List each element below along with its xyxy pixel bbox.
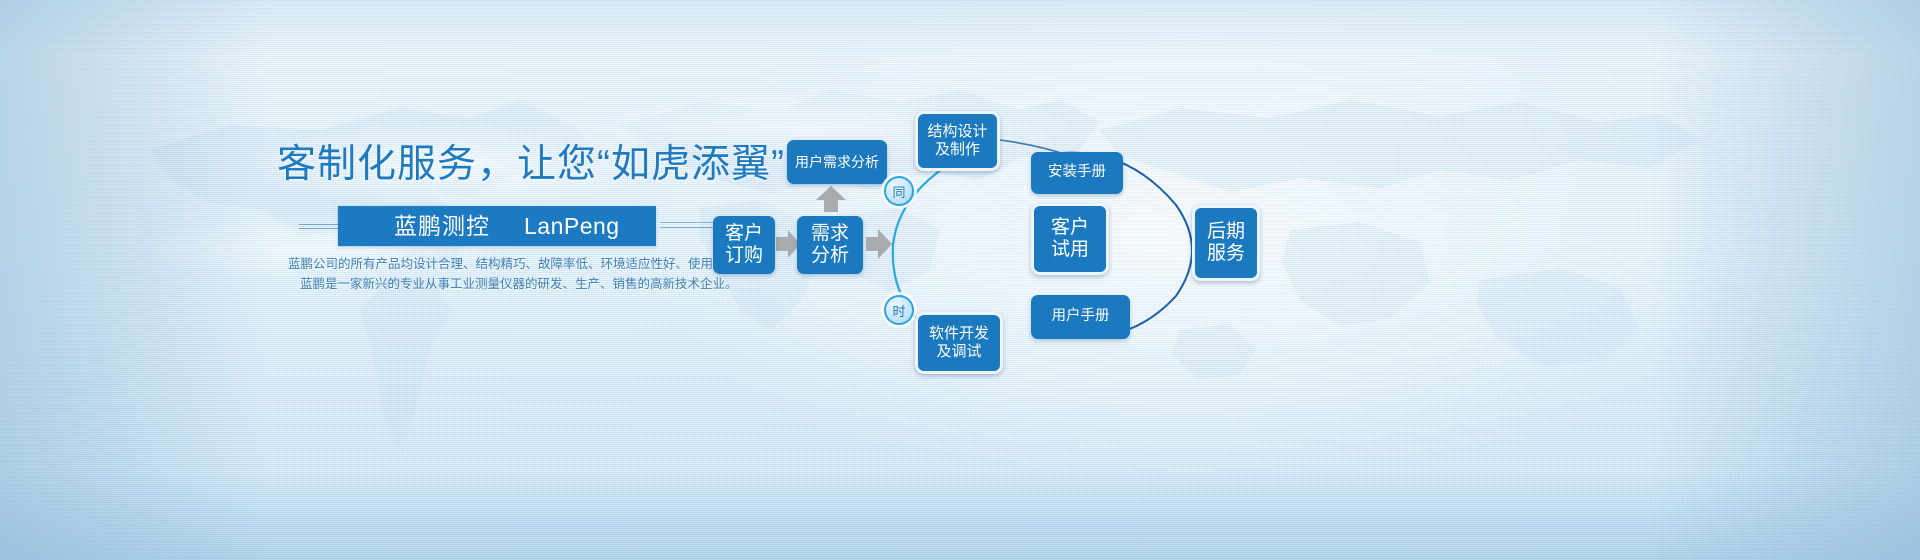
flow-badge-tong: 同	[884, 176, 914, 206]
node-label: 安装手册	[1048, 164, 1106, 181]
flow-node-requirement-analysis[interactable]: 需求分析	[797, 216, 863, 274]
flow-node-software-development[interactable]: 软件开发及调试	[915, 312, 1003, 374]
flow-node-installation-manual[interactable]: 安装手册	[1031, 152, 1123, 194]
node-label: 软件开发及调试	[929, 325, 989, 360]
node-label: 后期服务	[1207, 221, 1245, 266]
node-label: 客户订购	[725, 223, 763, 268]
subtitle-line-1: 蓝鹏公司的所有产品均设计合理、结构精巧、故障率低、环境适应性好、使用寿命长。	[288, 255, 763, 273]
node-label: 结构设计及制作	[927, 123, 987, 158]
page-title: 客制化服务，让您“如虎添翼”	[277, 141, 785, 189]
flow-node-user-requirement-analysis[interactable]: 用户需求分析	[787, 140, 887, 184]
flow-node-customer-trial[interactable]: 客户试用	[1031, 203, 1109, 275]
brand-name-en: LanPeng	[524, 206, 620, 246]
badge-label: 同	[892, 182, 905, 201]
brand-bar: 蓝鹏测控LanPeng	[338, 206, 656, 246]
node-label: 用户需求分析	[795, 154, 879, 171]
flow-node-after-service[interactable]: 后期服务	[1192, 205, 1260, 281]
brand-row: 蓝鹏测控LanPeng	[300, 206, 660, 246]
node-label: 用户手册	[1052, 308, 1110, 325]
node-label: 客户试用	[1051, 217, 1089, 262]
node-label: 需求分析	[811, 223, 849, 268]
subtitle-line-2: 蓝鹏是一家新兴的专业从事工业测量仪器的研发、生产、销售的高新技术企业。	[300, 275, 738, 293]
badge-label: 时	[892, 301, 905, 320]
flow-node-structure-design[interactable]: 结构设计及制作	[915, 111, 1000, 171]
flow-badge-shi: 时	[884, 295, 914, 325]
brand-name-cn: 蓝鹏测控	[394, 206, 490, 246]
banner-stage: 客制化服务，让您“如虎添翼” 蓝鹏测控LanPeng 蓝鹏公司的所有产品均设计合…	[0, 0, 1920, 560]
flow-node-user-manual[interactable]: 用户手册	[1031, 295, 1130, 339]
flow-node-customer-order[interactable]: 客户订购	[713, 216, 775, 274]
